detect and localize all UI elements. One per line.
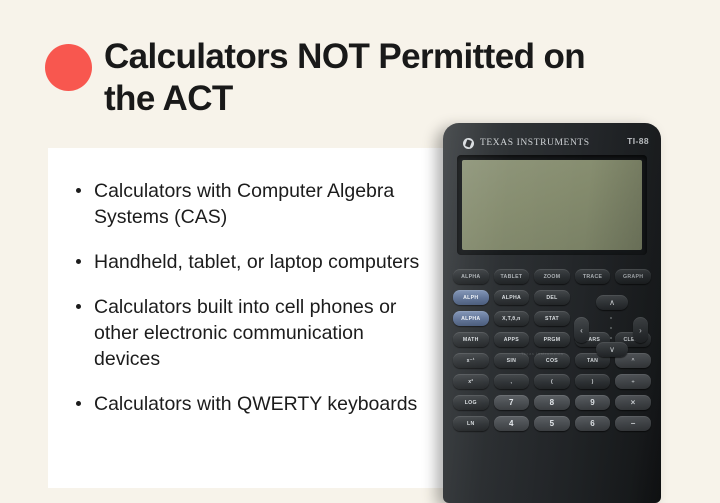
header: Calculators NOT Permitted on the ACT: [0, 0, 720, 140]
bullet-dot-icon: [76, 259, 81, 264]
calculator-watermark: Texas Instruments: [521, 351, 564, 356]
key-stat[interactable]: STAT: [534, 311, 570, 326]
key-apps[interactable]: APPS: [494, 332, 530, 347]
key-inverse[interactable]: x⁻¹: [453, 353, 489, 368]
key-row-1: ALPHA TABLET ZOOM TRACE GRAPH: [453, 269, 651, 284]
key-tablet[interactable]: TABLET: [494, 269, 530, 284]
key-9[interactable]: 9: [575, 395, 611, 410]
key-ln[interactable]: LN: [453, 416, 489, 431]
accent-dot-icon: [45, 44, 92, 91]
key-square[interactable]: x²: [453, 374, 489, 389]
key-graph[interactable]: GRAPH: [615, 269, 651, 284]
list-item: Calculators built into cell phones or ot…: [74, 294, 424, 372]
key-8[interactable]: 8: [534, 395, 570, 410]
list-item-label: Handheld, tablet, or laptop computers: [94, 251, 419, 273]
list-item: Handheld, tablet, or laptop computers: [74, 249, 424, 275]
key-prgm[interactable]: PRGM: [534, 332, 570, 347]
page-title: Calculators NOT Permitted on the ACT: [104, 36, 644, 120]
dpad-center-dots-icon: [608, 317, 614, 339]
prohibited-calculators-list: Calculators with Computer Algebra System…: [48, 148, 448, 417]
list-item-label: Calculators with QWERTY keyboards: [94, 393, 417, 415]
bullet-dot-icon: [76, 401, 81, 406]
key-trace[interactable]: TRACE: [575, 269, 611, 284]
content-card: Calculators with Computer Algebra System…: [48, 148, 448, 488]
poster-page: Calculators NOT Permitted on the ACT Cal…: [0, 0, 720, 480]
key-alpha-secondary[interactable]: ALPHA: [494, 290, 530, 305]
key-6[interactable]: 6: [575, 416, 611, 431]
key-row-8: LN 4 5 6 −: [453, 416, 651, 431]
key-open-paren[interactable]: (: [534, 374, 570, 389]
key-row-6: x² , ( ) ÷: [453, 374, 651, 389]
calculator-brand-row: Texas Instruments TI-88: [463, 135, 649, 151]
calculator-model-label: TI-88: [627, 136, 649, 146]
list-item-label: Calculators built into cell phones or ot…: [94, 296, 396, 370]
key-7[interactable]: 7: [494, 395, 530, 410]
calculator-dpad: ∧ ‹ › ∨: [574, 295, 648, 357]
key-divide[interactable]: ÷: [615, 374, 651, 389]
bullet-dot-icon: [76, 188, 81, 193]
key-alpha[interactable]: ALPHA: [453, 269, 489, 284]
key-close-paren[interactable]: ): [575, 374, 611, 389]
key-subtract[interactable]: −: [615, 416, 651, 431]
arrow-left-icon[interactable]: ‹: [574, 317, 589, 343]
key-5[interactable]: 5: [534, 416, 570, 431]
arrow-down-icon[interactable]: ∨: [596, 342, 628, 357]
calculator-brand-label: Texas Instruments: [480, 138, 590, 148]
arrow-right-icon[interactable]: ›: [633, 317, 648, 343]
key-log[interactable]: LOG: [453, 395, 489, 410]
list-item-label: Calculators with Computer Algebra System…: [94, 180, 394, 228]
calculator-screen: [462, 160, 642, 250]
key-alpha-blue[interactable]: ALPHA: [453, 311, 489, 326]
key-math[interactable]: MATH: [453, 332, 489, 347]
texas-instruments-logo-icon: [463, 138, 474, 149]
key-del[interactable]: DEL: [534, 290, 570, 305]
key-comma[interactable]: ,: [494, 374, 530, 389]
key-zoom[interactable]: ZOOM: [534, 269, 570, 284]
key-second[interactable]: ALPH: [453, 290, 489, 305]
list-item: Calculators with QWERTY keyboards: [74, 391, 424, 417]
list-item: Calculators with Computer Algebra System…: [74, 178, 424, 230]
key-variable-x[interactable]: X,T,θ,n: [494, 311, 530, 326]
key-multiply[interactable]: ×: [615, 395, 651, 410]
key-4[interactable]: 4: [494, 416, 530, 431]
graphing-calculator-image: Texas Instruments TI-88 ALPHA TABLET ZOO…: [443, 123, 661, 503]
bullet-dot-icon: [76, 304, 81, 309]
key-row-7: LOG 7 8 9 ×: [453, 395, 651, 410]
calculator-screen-frame: [457, 155, 647, 255]
arrow-up-icon[interactable]: ∧: [596, 295, 628, 310]
